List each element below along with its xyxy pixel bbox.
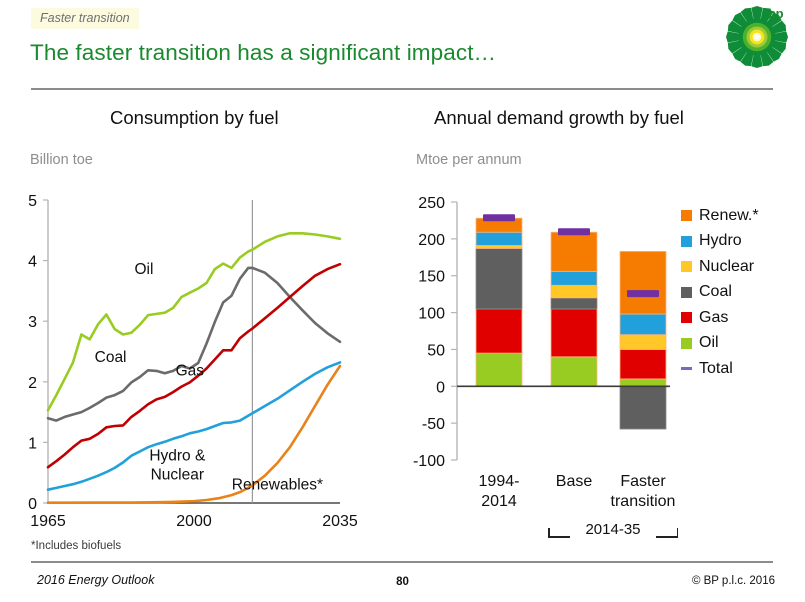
- svg-text:Nuclear: Nuclear: [151, 467, 204, 484]
- legend-item-coal[interactable]: Coal: [681, 280, 759, 306]
- footnote: *Includes biofuels: [31, 540, 121, 552]
- svg-text:0: 0: [28, 496, 37, 513]
- svg-text:Base: Base: [556, 473, 593, 490]
- legend-swatch-1: [681, 236, 692, 247]
- legend-swatch-2: [681, 261, 692, 272]
- svg-text:2035: 2035: [322, 513, 358, 530]
- legend-item-oil[interactable]: Oil: [681, 331, 759, 357]
- svg-text:-50: -50: [422, 416, 445, 433]
- left-chart-title: Consumption by fuel: [110, 107, 279, 129]
- svg-text:Oil: Oil: [134, 261, 153, 278]
- legend-swatch-3: [681, 287, 692, 298]
- legend-item-nuclear[interactable]: Nuclear: [681, 254, 759, 280]
- svg-text:1965: 1965: [30, 513, 66, 530]
- svg-text:2014: 2014: [481, 493, 517, 510]
- chart-legend: Renew.*HydroNuclearCoalGasOilTotal: [681, 203, 759, 382]
- svg-text:-100: -100: [413, 453, 445, 470]
- svg-text:5: 5: [28, 193, 37, 210]
- right-chart-title: Annual demand growth by fuel: [434, 107, 684, 129]
- svg-text:Hydro &: Hydro &: [149, 448, 206, 465]
- legend-item-hydro[interactable]: Hydro: [681, 229, 759, 255]
- svg-text:50: 50: [427, 342, 445, 359]
- annual-demand-growth-chart: -100-500501001502002501994-2014BaseFaste…: [395, 180, 685, 540]
- right-chart-ylabel: Mtoe per annum: [416, 152, 522, 168]
- legend-swatch-6: [681, 367, 692, 370]
- legend-label: Hydro: [699, 232, 742, 250]
- legend-label: Gas: [699, 309, 728, 327]
- svg-text:4: 4: [28, 254, 37, 271]
- legend-label: Coal: [699, 283, 732, 301]
- svg-text:200: 200: [418, 232, 445, 249]
- svg-text:1994-: 1994-: [479, 473, 520, 490]
- footer-divider: [31, 561, 773, 563]
- legend-swatch-5: [681, 338, 692, 349]
- page-title: The faster transition has a significant …: [30, 40, 496, 66]
- legend-item-renew[interactable]: Renew.*: [681, 203, 759, 229]
- legend-item-gas[interactable]: Gas: [681, 305, 759, 331]
- svg-text:100: 100: [418, 306, 445, 323]
- legend-label: Oil: [699, 334, 719, 352]
- left-chart-ylabel: Billion toe: [30, 152, 93, 168]
- header-divider: [31, 88, 773, 90]
- svg-text:3: 3: [28, 314, 37, 331]
- section-tag: Faster transition: [31, 8, 139, 29]
- svg-text:Coal: Coal: [95, 349, 127, 366]
- bp-wordmark: bp: [768, 6, 783, 21]
- svg-text:150: 150: [418, 269, 445, 286]
- consumption-by-fuel-chart: 012345196520002035OilCoalGasHydro &Nucle…: [0, 180, 400, 540]
- svg-text:Renewables*: Renewables*: [232, 477, 323, 494]
- svg-text:2: 2: [28, 375, 37, 392]
- legend-label: Nuclear: [699, 258, 754, 276]
- legend-swatch-4: [681, 312, 692, 323]
- copyright: © BP p.l.c. 2016: [692, 575, 775, 587]
- svg-text:2000: 2000: [176, 513, 212, 530]
- group-brace-label: 2014-35: [548, 521, 678, 538]
- page-number: 80: [0, 576, 805, 588]
- svg-text:Faster: Faster: [620, 473, 666, 490]
- legend-swatch-0: [681, 210, 692, 221]
- legend-label: Renew.*: [699, 207, 759, 225]
- svg-text:transition: transition: [611, 493, 676, 510]
- svg-text:1: 1: [28, 435, 37, 452]
- svg-text:Gas: Gas: [176, 363, 205, 380]
- legend-item-total[interactable]: Total: [681, 356, 759, 382]
- legend-label: Total: [699, 360, 733, 378]
- slide: Faster transition The faster transition …: [0, 0, 805, 602]
- svg-text:250: 250: [418, 195, 445, 212]
- svg-text:0: 0: [436, 379, 445, 396]
